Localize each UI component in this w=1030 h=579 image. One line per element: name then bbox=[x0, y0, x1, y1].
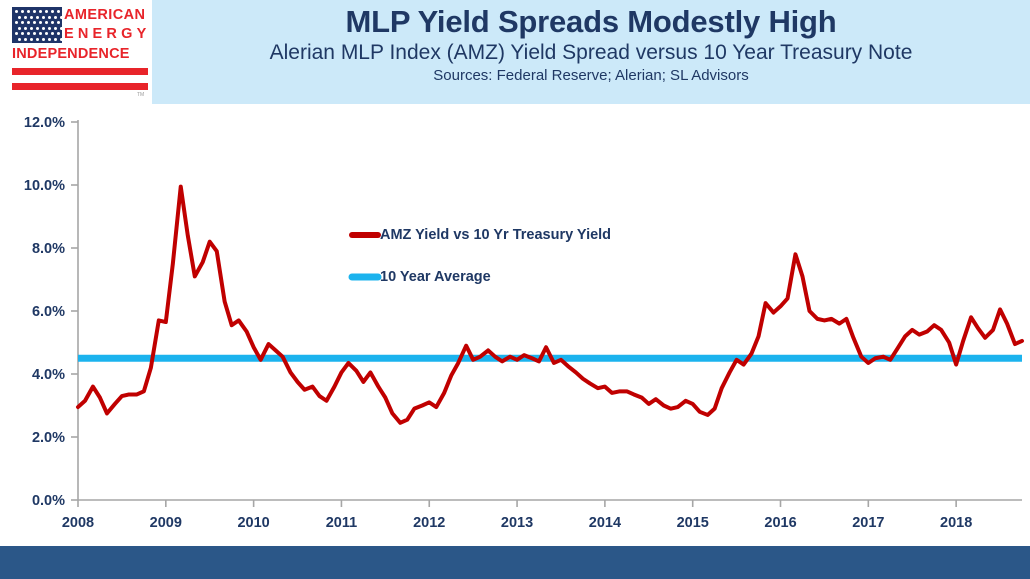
flag-star-icon bbox=[42, 38, 45, 41]
x-tick-label: 2013 bbox=[501, 515, 533, 531]
x-tick-label: 2010 bbox=[237, 515, 269, 531]
flag-star-icon bbox=[36, 16, 39, 19]
flag-star-icon bbox=[33, 32, 36, 35]
flag-star-icon bbox=[60, 16, 62, 19]
flag-star-icon bbox=[39, 21, 42, 24]
logo-text-independence: INDEPENDENCE bbox=[12, 46, 130, 62]
x-tick-label: 2008 bbox=[62, 515, 94, 531]
flag-star-icon bbox=[60, 38, 62, 41]
y-tick-label: 4.0% bbox=[32, 367, 65, 383]
chart-axes bbox=[71, 120, 1022, 507]
flag-star-icon bbox=[42, 16, 45, 19]
logo-text-american: AMERICAN bbox=[64, 7, 145, 23]
flag-star-icon bbox=[15, 10, 18, 13]
flag-star-icon bbox=[45, 21, 48, 24]
yield-spread-line-chart: 0.0%2.0%4.0%6.0%8.0%10.0%12.0% 200820092… bbox=[0, 104, 1030, 535]
logo-inner: AMERICAN ENERGY INDEPENDENCE TM bbox=[6, 5, 148, 100]
y-tick-label: 0.0% bbox=[32, 493, 65, 509]
flag-star-icon bbox=[39, 32, 42, 35]
page-header: AMERICAN ENERGY INDEPENDENCE TM MLP Yiel… bbox=[0, 0, 1030, 104]
y-tick-label: 10.0% bbox=[24, 178, 65, 194]
flag-star-icon bbox=[51, 32, 54, 35]
flag-star-icon bbox=[21, 10, 24, 13]
amz-spread-series-line bbox=[78, 187, 1022, 423]
brand-logo: AMERICAN ENERGY INDEPENDENCE TM bbox=[0, 0, 152, 104]
flag-star-field-icon bbox=[12, 7, 62, 43]
legend-item-label: AMZ Yield vs 10 Yr Treasury Yield bbox=[380, 227, 611, 243]
flag-star-icon bbox=[60, 27, 62, 30]
flag-star-icon bbox=[15, 32, 18, 35]
y-tick-label: 6.0% bbox=[32, 304, 65, 320]
flag-star-icon bbox=[36, 27, 39, 30]
flag-star-icon bbox=[48, 38, 51, 41]
x-tick-label: 2016 bbox=[764, 515, 796, 531]
flag-star-icon bbox=[54, 38, 57, 41]
x-tick-label: 2011 bbox=[326, 515, 357, 531]
logo-text-energy: ENERGY bbox=[64, 26, 150, 42]
flag-star-icon bbox=[24, 27, 27, 30]
flag-star-icon bbox=[51, 21, 54, 24]
flag-star-icon bbox=[54, 27, 57, 30]
flag-star-icon bbox=[18, 38, 21, 41]
page-subtitle: Alerian MLP Index (AMZ) Yield Spread ver… bbox=[152, 40, 1030, 66]
logo-stripe-upper bbox=[12, 68, 148, 75]
flag-star-icon bbox=[21, 21, 24, 24]
flag-star-icon bbox=[33, 21, 36, 24]
flag-star-icon bbox=[39, 10, 42, 13]
flag-star-icon bbox=[30, 38, 33, 41]
page-sources: Sources: Federal Reserve; Alerian; SL Ad… bbox=[152, 66, 1030, 86]
flag-star-icon bbox=[27, 32, 30, 35]
y-axis-tick-labels: 0.0%2.0%4.0%6.0%8.0%10.0%12.0% bbox=[24, 115, 65, 509]
logo-stripe-lower bbox=[12, 83, 148, 90]
flag-star-icon bbox=[57, 10, 60, 13]
flag-star-icon bbox=[57, 32, 60, 35]
flag-star-icon bbox=[33, 10, 36, 13]
legend-item-label: 10 Year Average bbox=[380, 269, 491, 285]
flag-star-icon bbox=[30, 27, 33, 30]
flag-star-icon bbox=[24, 38, 27, 41]
x-tick-label: 2009 bbox=[150, 515, 182, 531]
x-tick-label: 2015 bbox=[677, 515, 709, 531]
y-tick-label: 8.0% bbox=[32, 241, 65, 257]
flag-star-icon bbox=[27, 10, 30, 13]
x-axis-tick-labels: 2008200920102011201220132014201520162017… bbox=[62, 515, 972, 531]
flag-star-icon bbox=[24, 16, 27, 19]
y-tick-label: 2.0% bbox=[32, 430, 65, 446]
page-title: MLP Yield Spreads Modestly High bbox=[152, 0, 1030, 40]
x-tick-label: 2014 bbox=[589, 515, 621, 531]
logo-trademark: TM bbox=[137, 92, 144, 98]
header-titles: MLP Yield Spreads Modestly High Alerian … bbox=[152, 0, 1030, 104]
flag-star-icon bbox=[15, 21, 18, 24]
flag-star-icon bbox=[27, 21, 30, 24]
flag-star-icon bbox=[48, 27, 51, 30]
x-tick-label: 2017 bbox=[852, 515, 884, 531]
flag-star-icon bbox=[51, 10, 54, 13]
chart-legend: AMZ Yield vs 10 Yr Treasury Yield10 Year… bbox=[352, 227, 611, 285]
flag-star-icon bbox=[45, 32, 48, 35]
x-tick-label: 2012 bbox=[413, 515, 445, 531]
flag-star-icon bbox=[18, 16, 21, 19]
flag-star-icon bbox=[21, 32, 24, 35]
x-tick-label: 2018 bbox=[940, 515, 972, 531]
flag-star-icon bbox=[18, 27, 21, 30]
flag-star-icon bbox=[42, 27, 45, 30]
chart-container: 0.0%2.0%4.0%6.0%8.0%10.0%12.0% 200820092… bbox=[0, 104, 1030, 535]
flag-star-icon bbox=[54, 16, 57, 19]
footer-bar bbox=[0, 546, 1030, 579]
flag-star-icon bbox=[48, 16, 51, 19]
flag-star-icon bbox=[36, 38, 39, 41]
y-tick-label: 12.0% bbox=[24, 115, 65, 131]
flag-star-icon bbox=[57, 21, 60, 24]
flag-star-icon bbox=[30, 16, 33, 19]
flag-star-icon bbox=[45, 10, 48, 13]
